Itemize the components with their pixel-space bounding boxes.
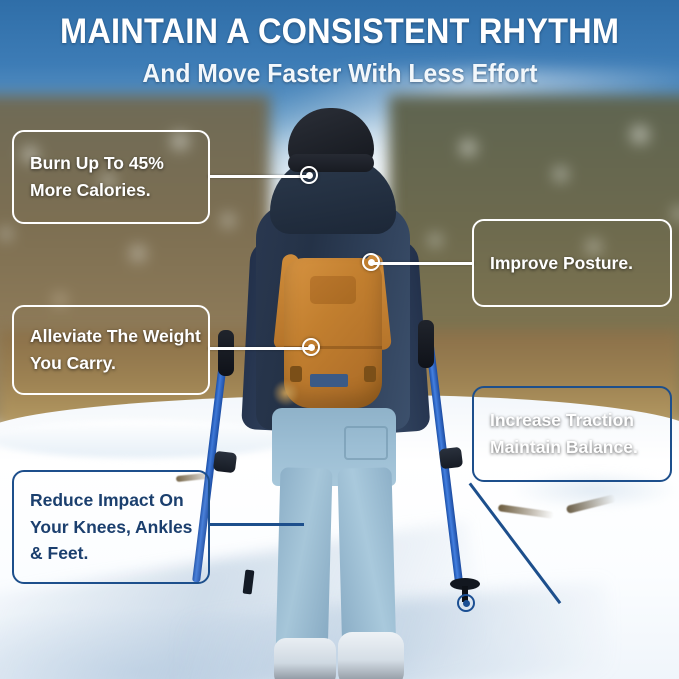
- backpack-cord: [272, 380, 300, 406]
- page-title: MAINTAIN A CONSISTENT RHYTHM: [60, 14, 619, 50]
- callout-burn-calories: Burn Up To 45% More Calories.: [12, 130, 210, 224]
- backpack-pocket: [310, 276, 356, 304]
- callout-line: Your Knees, Ankles: [30, 514, 192, 541]
- anchor-marker-icon-posture: [362, 253, 380, 271]
- pole-left-grip: [218, 330, 234, 376]
- callout-line: Maintain Balance.: [490, 434, 654, 461]
- callout-line: Improve Posture.: [490, 250, 654, 277]
- jeans-pocket: [344, 426, 388, 460]
- connector-line-knees: [208, 523, 304, 526]
- callout-alleviate-weight: Alleviate The Weight You Carry.: [12, 305, 210, 395]
- callout-increase-traction: Increase Traction Maintain Balance.: [472, 386, 672, 482]
- leg-left: [275, 467, 332, 660]
- anchor-marker-icon-calories: [300, 166, 318, 184]
- anchor-marker-icon-traction: [457, 594, 475, 612]
- pole-left-lock: [213, 451, 237, 474]
- page-subtitle: And Move Faster With Less Effort: [142, 58, 537, 89]
- connector-line-posture: [370, 262, 474, 265]
- connector-line-weight: [208, 347, 310, 350]
- pole-right-grip: [418, 320, 434, 368]
- anchor-marker-icon-weight: [302, 338, 320, 356]
- callout-line: You Carry.: [30, 350, 192, 377]
- callout-line: More Calories.: [30, 177, 192, 204]
- hiker-figure: [232, 108, 442, 648]
- backpack-buckle-right: [364, 366, 376, 382]
- pole-right-lock: [439, 447, 463, 470]
- callout-line: Burn Up To 45%: [30, 150, 192, 177]
- callout-line: Increase Traction: [490, 407, 654, 434]
- callout-reduce-impact: Reduce Impact On Your Knees, Ankles & Fe…: [12, 470, 210, 584]
- connector-line-calories: [208, 175, 308, 178]
- callout-line: Reduce Impact On: [30, 487, 192, 514]
- callout-line: Alleviate The Weight: [30, 323, 192, 350]
- callout-line: & Feet.: [30, 540, 192, 567]
- callout-improve-posture: Improve Posture.: [472, 219, 672, 307]
- product-feature-infographic: MAINTAIN A CONSISTENT RHYTHM And Move Fa…: [0, 0, 679, 679]
- header: MAINTAIN A CONSISTENT RHYTHM And Move Fa…: [0, 0, 679, 96]
- backpack-tag: [310, 374, 348, 387]
- boot-right: [338, 632, 404, 679]
- boot-left: [274, 638, 336, 679]
